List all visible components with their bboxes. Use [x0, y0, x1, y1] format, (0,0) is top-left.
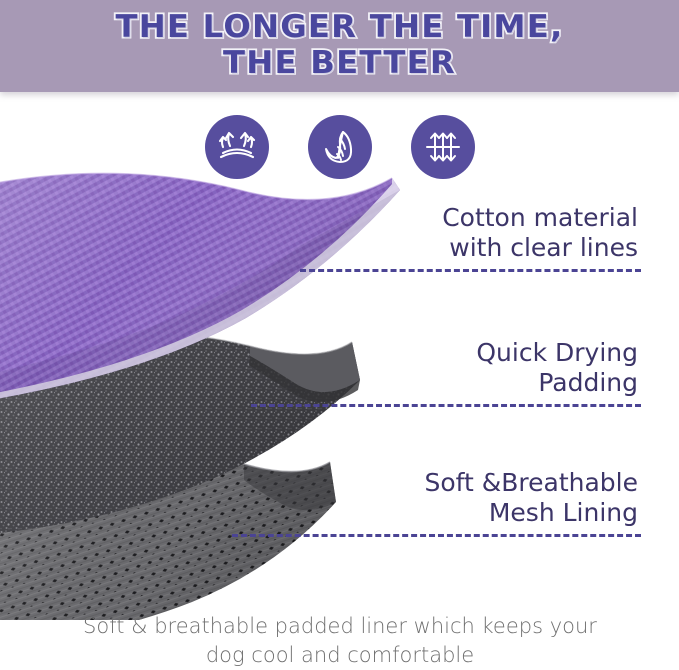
callout-cotton-material: Cotton material with clear lines — [310, 203, 640, 263]
callout-label: Soft &Breathable Mesh Lining — [310, 468, 640, 528]
page-title: THE LONGER THE TIME, THE BETTER — [0, 9, 679, 81]
feature-icon-row — [205, 113, 475, 181]
footer-caption: Soft & breathable padded liner which kee… — [40, 612, 640, 670]
callout-label: Cotton material with clear lines — [310, 203, 640, 263]
header-banner: THE LONGER THE TIME, THE BETTER — [0, 0, 679, 92]
breathability-icon — [205, 115, 269, 179]
callout-label: Quick Drying Padding — [310, 338, 640, 398]
leader-line-cotton-material — [300, 269, 641, 272]
callout-quick-drying-padding: Quick Drying Padding — [310, 338, 640, 398]
air-permeability-icon — [411, 115, 475, 179]
callout-mesh-lining: Soft &Breathable Mesh Lining — [310, 468, 640, 528]
leader-line-mesh-lining — [232, 534, 641, 537]
feather-icon — [308, 115, 372, 179]
leader-line-quick-drying-padding — [251, 404, 641, 407]
